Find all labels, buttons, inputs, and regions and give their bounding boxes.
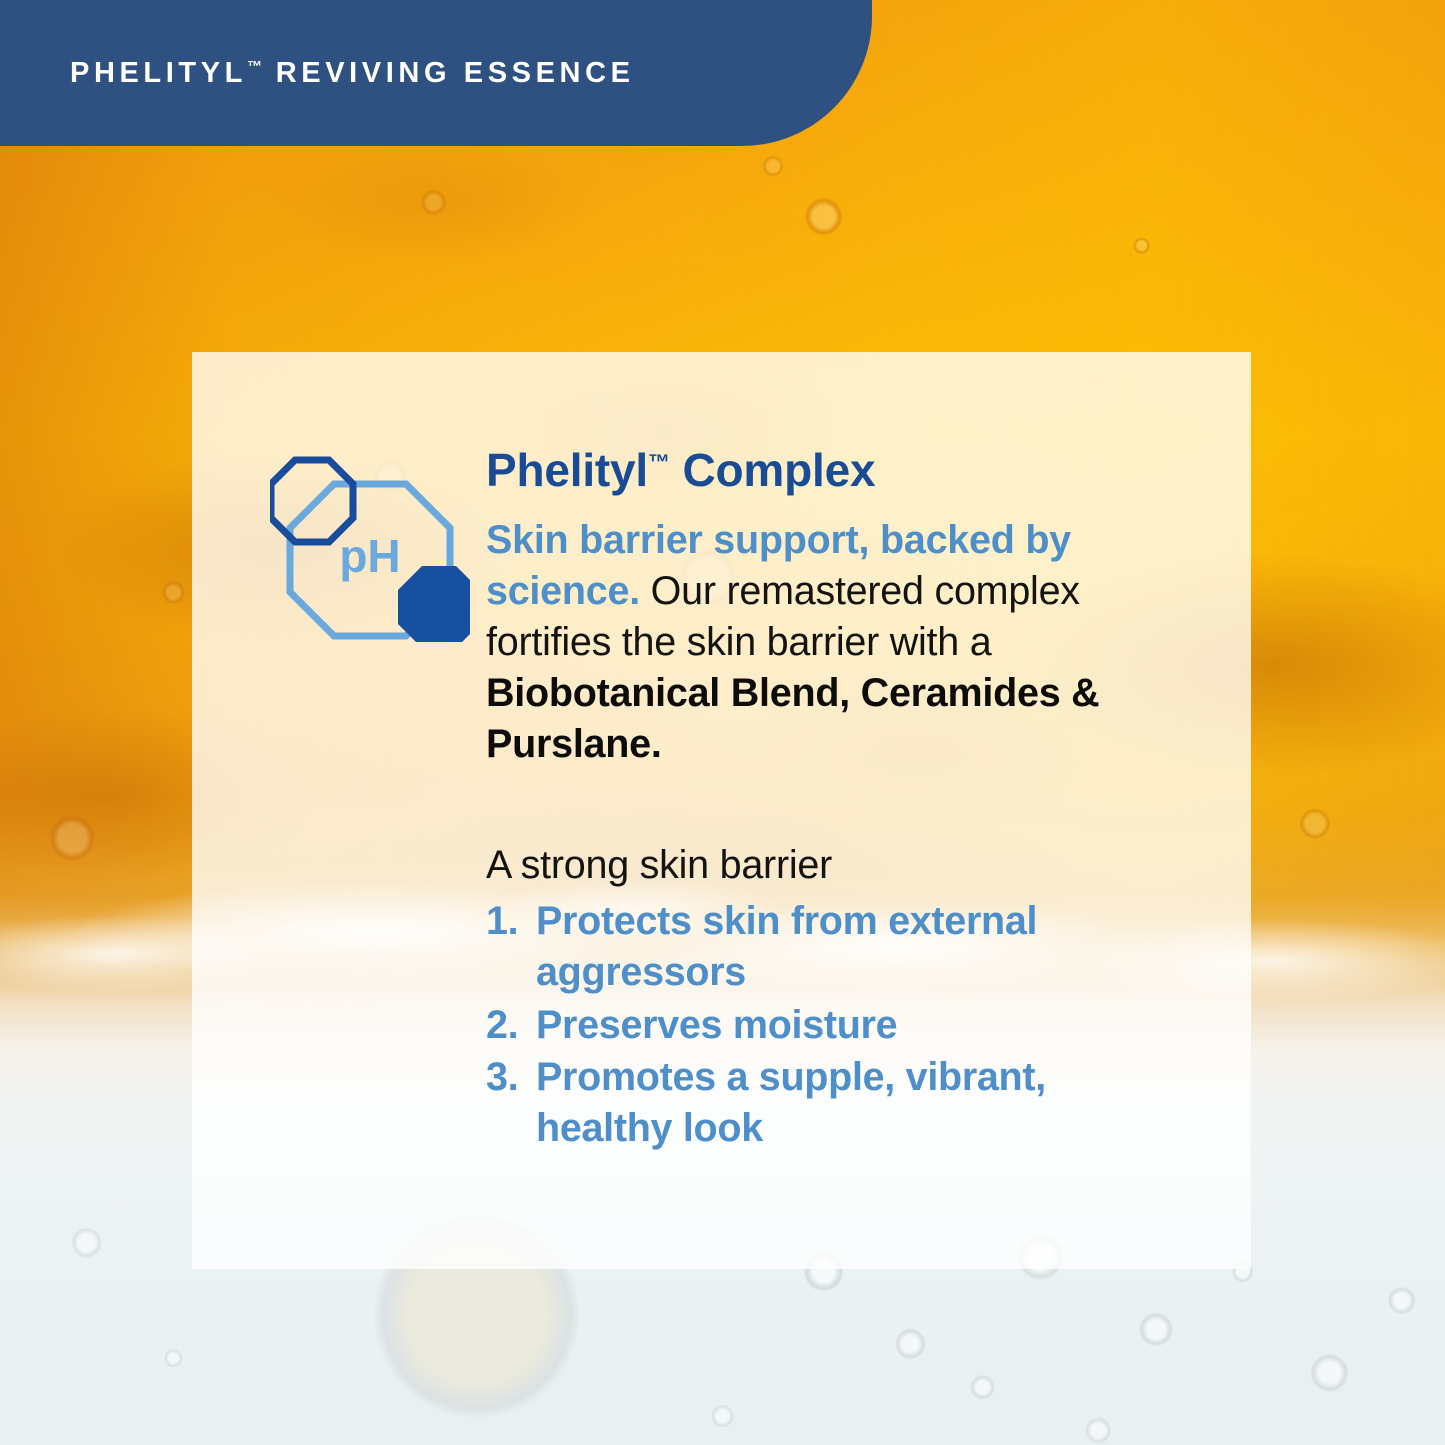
small-solid-octagon-shape bbox=[398, 566, 470, 642]
list-item-number: 2. bbox=[486, 1000, 518, 1051]
card-heading-brand: Phelityl bbox=[486, 444, 648, 496]
banner-title-product: REVIVING ESSENCE bbox=[263, 57, 635, 89]
content-card: pH Phelityl™ Complex Skin barrier suppor… bbox=[192, 352, 1251, 1269]
list-item-number: 1. bbox=[486, 896, 518, 947]
trademark-icon: ™ bbox=[247, 58, 263, 75]
card-heading-rest: Complex bbox=[670, 444, 875, 496]
ph-octagon-icon: pH bbox=[270, 444, 486, 1269]
ph-label: pH bbox=[339, 530, 400, 582]
product-info-graphic: PHELITYL™ REVIVING ESSENCE pH Phelityl™ … bbox=[0, 0, 1445, 1445]
banner-title: PHELITYL™ REVIVING ESSENCE bbox=[70, 59, 635, 88]
card-heading: Phelityl™ Complex bbox=[486, 446, 1191, 495]
list-item-label: Preserves moisture bbox=[536, 1003, 897, 1047]
list-item: 1.Protects skin from external aggressors bbox=[486, 896, 1191, 997]
list-item-label: Protects skin from external aggressors bbox=[536, 899, 1037, 994]
list-item-number: 3. bbox=[486, 1052, 518, 1103]
paragraph-ingredients: Biobotanical Blend, Ceramides & Purslane… bbox=[486, 671, 1099, 766]
card-body: Phelityl™ Complex Skin barrier support, … bbox=[486, 444, 1191, 1269]
card-paragraph: Skin barrier support, backed by science.… bbox=[486, 515, 1191, 770]
benefits-intro: A strong skin barrier bbox=[486, 840, 1191, 891]
benefits-list: 1.Protects skin from external aggressors… bbox=[486, 896, 1191, 1153]
banner-title-brand: PHELITYL bbox=[70, 57, 247, 89]
list-item: 3.Promotes a supple, vibrant, healthy lo… bbox=[486, 1052, 1191, 1153]
list-item-label: Promotes a supple, vibrant, healthy look bbox=[536, 1055, 1046, 1150]
list-item: 2.Preserves moisture bbox=[486, 1000, 1191, 1051]
header-banner: PHELITYL™ REVIVING ESSENCE bbox=[0, 0, 872, 146]
trademark-icon: ™ bbox=[648, 450, 670, 475]
